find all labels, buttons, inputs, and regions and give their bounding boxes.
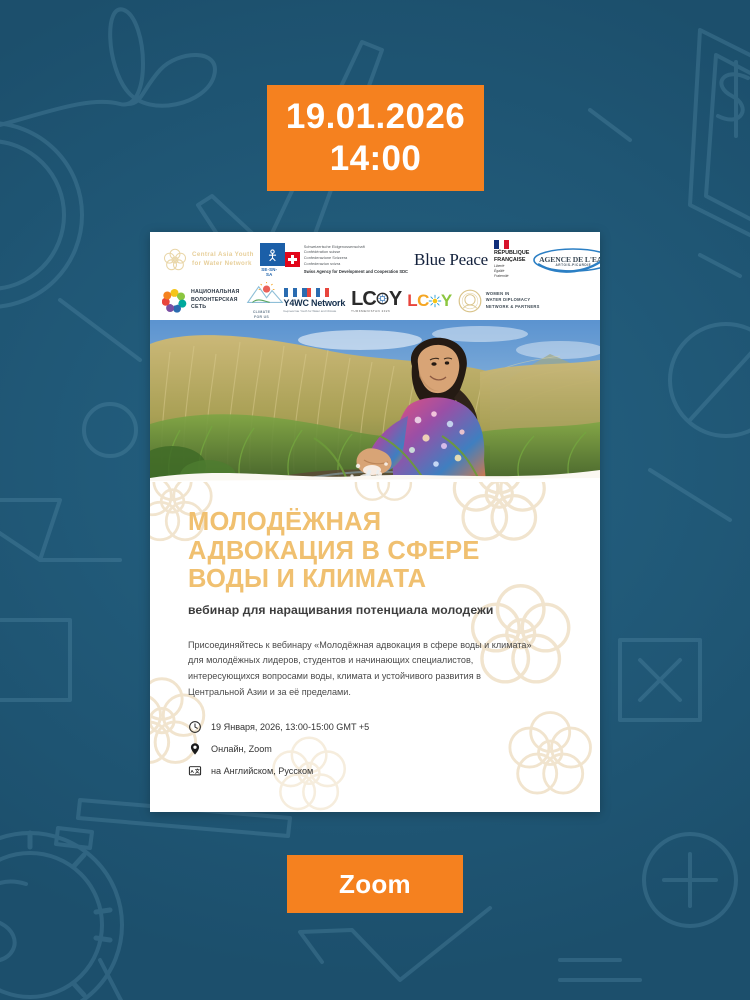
logo-swiss-sdc: Schweizerische Eidgenossenschaft Confédé… bbox=[282, 244, 411, 276]
title-line-1: МОЛОДЁЖНАЯ bbox=[188, 508, 562, 537]
colorful-flower-icon bbox=[162, 288, 187, 313]
lcoy-color-y: Y bbox=[441, 292, 452, 309]
location-pin-icon bbox=[188, 742, 202, 756]
lcoy-color-l: L bbox=[407, 292, 417, 309]
logo-agence-de-leau: AGENCE DE L'EAU ARTOIS-PICARDIE bbox=[532, 247, 600, 273]
sesnsa-glyph-icon bbox=[264, 246, 281, 263]
sun-wheel-color-icon bbox=[428, 294, 442, 308]
logo-caywn-text: Central Asia Youth for Water Network bbox=[192, 251, 254, 268]
logo-national-volunteer-network: НАЦИОНАЛЬНАЯ ВОЛОНТЕРСКАЯ СЕТЬ bbox=[159, 288, 243, 313]
rosette-icon bbox=[162, 247, 188, 273]
detail-text-location: Онлайн, Zoom bbox=[211, 744, 272, 754]
lcoy-color-wordmark: L C Y bbox=[407, 292, 452, 309]
nvs-text: НАЦИОНАЛЬНАЯ ВОЛОНТЕРСКАЯ СЕТЬ bbox=[191, 289, 240, 313]
sponsor-logo-band: Central Asia Youth for Water Network bbox=[150, 232, 600, 320]
zoom-button-label: Zoom bbox=[339, 869, 411, 900]
logo-caywn: Central Asia Youth for Water Network bbox=[159, 247, 257, 273]
clock-icon bbox=[188, 720, 202, 734]
agence-sub: ARTOIS-PICARDIE bbox=[532, 263, 600, 267]
y4wc-wordmark: Y4WC Network bbox=[284, 298, 346, 308]
caywn-line1: Central Asia Youth bbox=[192, 251, 254, 259]
swiss-sdc-text: Schweizerische Eidgenossenschaft Confédé… bbox=[304, 244, 408, 276]
logo-row-2: НАЦИОНАЛЬНАЯ ВОЛОНТЕРСКАЯ СЕТЬ bbox=[159, 280, 591, 321]
detail-text-language: на Английском, Русском bbox=[211, 766, 313, 776]
climate-line2: FOR US bbox=[246, 315, 278, 320]
y4wc-sub: Кыргызстан Youth for Water and Climate bbox=[284, 309, 346, 313]
zoom-button[interactable]: Zoom bbox=[287, 855, 463, 913]
logo-blue-peace: Blue Peace bbox=[411, 250, 491, 270]
lcoy-letter-y: Y bbox=[389, 289, 401, 309]
logo-sesnsa: SE-SN-SA bbox=[257, 243, 282, 277]
detail-row-time: 19 Января, 2026, 13:00-15:00 GMT +5 bbox=[188, 720, 562, 734]
description-paragraph: Присоединяйтесь к вебинару «Молодёжная а… bbox=[188, 638, 533, 701]
title-line-2: АДВОКАЦИЯ В СФЕРЕ bbox=[188, 537, 562, 566]
detail-text-time: 19 Января, 2026, 13:00-15:00 GMT +5 bbox=[211, 722, 369, 732]
svg-text:A: A bbox=[190, 769, 194, 775]
nvs-line2: ВОЛОНТЕРСКАЯ bbox=[191, 297, 240, 305]
detail-row-language: A 文 на Английском, Русском bbox=[188, 764, 562, 778]
logo-climate-for-us: CLIMATE FOR US bbox=[243, 282, 281, 319]
french-flag-icon bbox=[494, 240, 509, 249]
webinar-poster: Central Asia Youth for Water Network bbox=[150, 232, 600, 812]
hero-photo bbox=[150, 320, 600, 482]
banner-date: 19.01.2026 bbox=[286, 97, 465, 137]
rf-motto: Liberté Égalité Fraternité bbox=[494, 264, 529, 279]
detail-row-location: Онлайн, Zoom bbox=[188, 742, 562, 756]
mountain-sun-icon bbox=[246, 282, 284, 304]
wwd-emblem-icon bbox=[458, 289, 482, 313]
date-time-banner: 19.01.2026 14:00 bbox=[267, 85, 484, 191]
event-details-list: 19 Января, 2026, 13:00-15:00 GMT +5 Онла… bbox=[188, 720, 562, 778]
rf-line2: FRANÇAISE bbox=[494, 257, 529, 264]
page-title: МОЛОДЁЖНАЯ АДВОКАЦИЯ В СФЕРЕ ВОДЫ И КЛИМ… bbox=[188, 508, 562, 594]
swiss-agency-name: Swiss Agency for Development and Coopera… bbox=[304, 269, 408, 275]
logo-lcoy-color: L C Y bbox=[404, 292, 455, 309]
logo-row-1: Central Asia Youth for Water Network bbox=[159, 239, 591, 280]
logo-lcoy-mono: LC Y TURKMENISTAN 2026 bbox=[348, 289, 404, 313]
blue-peace-wordmark: Blue Peace bbox=[414, 250, 488, 270]
swiss-line-rm: Confederaziun svizra bbox=[304, 261, 408, 267]
logo-women-water-diplomacy: WOMEN IN WATER DIPLOMACY NETWORK & PARTN… bbox=[455, 289, 543, 313]
nvs-line1: НАЦИОНАЛЬНАЯ bbox=[191, 289, 240, 297]
rf-line1: RÉPUBLIQUE bbox=[494, 250, 529, 257]
translate-icon: A 文 bbox=[188, 764, 202, 778]
page-subtitle: вебинар для наращивания потенциала молод… bbox=[188, 603, 562, 617]
lcoy-mono-wordmark: LC Y bbox=[351, 289, 401, 309]
hero-photo-illustration bbox=[150, 320, 600, 482]
caywn-line2: for Water Network bbox=[192, 260, 254, 268]
banner-time: 14:00 bbox=[330, 139, 422, 179]
title-line-3: ВОДЫ И КЛИМАТА bbox=[188, 565, 562, 594]
wwd-text: WOMEN IN WATER DIPLOMACY NETWORK & PARTN… bbox=[486, 291, 540, 310]
climate-sub: CLIMATE FOR US bbox=[246, 310, 278, 319]
poster-content: МОЛОДЁЖНАЯ АДВОКАЦИЯ В СФЕРЕ ВОДЫ И КЛИМ… bbox=[150, 482, 600, 812]
wwd-line3: NETWORK & PARTNERS bbox=[486, 304, 540, 310]
sun-wheel-icon bbox=[375, 291, 390, 306]
sesnsa-label: SE-SN-SA bbox=[260, 267, 279, 277]
lcoy-letter-l: LC bbox=[351, 289, 376, 309]
logo-y4wc-network: Y4WC Network Кыргызстан Youth for Water … bbox=[281, 288, 349, 313]
logo-republique-francaise: RÉPUBLIQUE FRANÇAISE Liberté Égalité Fra… bbox=[491, 240, 532, 279]
y4wc-bars-icon bbox=[284, 288, 330, 297]
nvs-line3: СЕТЬ bbox=[191, 304, 240, 312]
swiss-flag-icon bbox=[285, 252, 300, 267]
svg-text:文: 文 bbox=[195, 768, 200, 775]
